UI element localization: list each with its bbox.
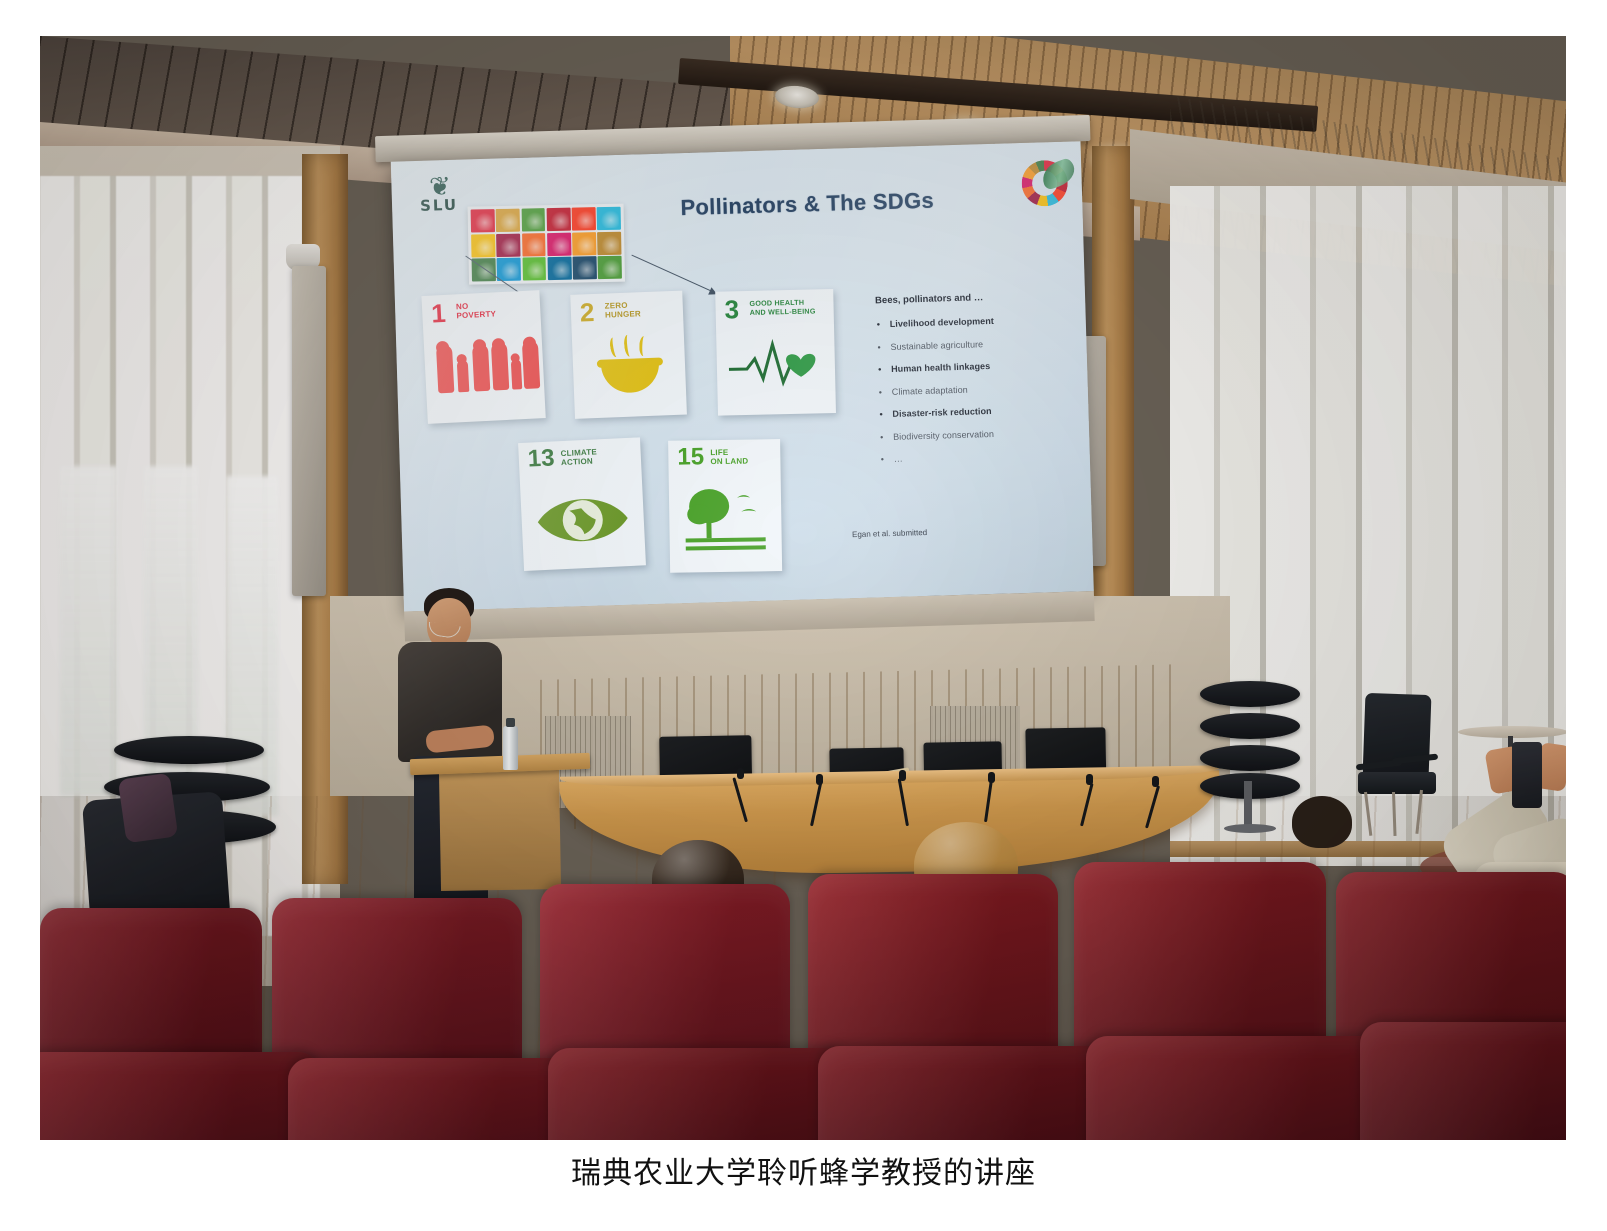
slu-wordmark: SLU bbox=[412, 195, 467, 215]
tree-birds-svg bbox=[683, 485, 772, 556]
seat-shading bbox=[1086, 1036, 1396, 1140]
sdg-card-13: 13 CLIMATE ACTION bbox=[518, 437, 646, 571]
page-root: ❦ SLU Pollinators & The SDGs 1 NO bbox=[0, 0, 1607, 1231]
sdg-goal-tile-2 bbox=[496, 209, 520, 232]
armchair-leg bbox=[1364, 792, 1372, 836]
eye-globe-icon bbox=[532, 486, 633, 555]
slu-leaf-icon: ❦ bbox=[411, 175, 466, 197]
lectern-body bbox=[439, 769, 561, 891]
wall-speaker-left bbox=[292, 266, 326, 596]
bullets-heading: Bees, pollinators and … bbox=[875, 290, 1055, 306]
sdg-goal-tile-8 bbox=[496, 233, 520, 256]
sdg-goal-tile-10 bbox=[547, 232, 571, 255]
black-armchair bbox=[1358, 694, 1436, 834]
projection-screen: ❦ SLU Pollinators & The SDGs 1 NO bbox=[391, 141, 1094, 611]
sdg-goal-tile-6 bbox=[597, 207, 621, 230]
sdg-card-label: CLIMATE ACTION bbox=[560, 447, 597, 467]
auditorium-seat-front bbox=[1086, 1036, 1396, 1140]
chair-ellipse bbox=[1200, 713, 1300, 739]
microphone-head-icon bbox=[816, 774, 823, 785]
audience-head bbox=[1292, 796, 1352, 848]
bullet-item-4: Climate adaptation bbox=[892, 382, 1058, 397]
sdg-card-label-line2: AND WELL-BEING bbox=[750, 306, 816, 316]
slide-citation: Egan et al. submitted bbox=[852, 528, 927, 539]
bullet-item-2: Sustainable agriculture bbox=[890, 337, 1056, 352]
photo-caption: 瑞典农业大学聆听蜂学教授的讲座 bbox=[0, 1148, 1607, 1192]
seat-shading bbox=[288, 1058, 578, 1140]
chair-ellipse bbox=[1200, 681, 1300, 707]
sdg-goal-tile-3 bbox=[521, 208, 545, 231]
microphone-head-icon bbox=[737, 768, 744, 779]
bullet-item-6: Biodiversity conservation bbox=[893, 426, 1059, 441]
armchair-seat bbox=[1358, 772, 1436, 794]
microphone-head-icon bbox=[988, 772, 995, 783]
bullet-list: Livelihood developmentSustainable agricu… bbox=[876, 314, 1060, 464]
water-bottle bbox=[503, 726, 518, 770]
sdg-card-label-line1: LIFE bbox=[710, 448, 728, 457]
water-bottle-cap bbox=[506, 718, 515, 727]
arrow-icon-right bbox=[631, 255, 715, 294]
sdg-card-15: 15 LIFE ON LAND bbox=[668, 439, 782, 573]
auditorium-seat-front bbox=[40, 1052, 320, 1140]
sdg-card-label: NO POVERTY bbox=[456, 300, 497, 320]
sdg-card-label-line2: ACTION bbox=[561, 457, 593, 467]
sdg-card-label: GOOD HEALTH AND WELL-BEING bbox=[749, 297, 815, 316]
sdg-goal-tile-15 bbox=[522, 257, 546, 280]
bullet-item-7: … bbox=[894, 449, 1060, 464]
sdg-goal-tile-7 bbox=[471, 234, 495, 257]
sdg-card-label: ZERO HUNGER bbox=[605, 300, 642, 319]
microphone-head-icon bbox=[899, 770, 906, 781]
sdg-goal-tile-5 bbox=[572, 207, 596, 230]
smartphone bbox=[1512, 742, 1542, 808]
auditorium-seat-front bbox=[818, 1046, 1118, 1140]
auditorium-seat-front bbox=[288, 1058, 578, 1140]
auditorium-seat-front bbox=[548, 1048, 848, 1140]
seat-shading bbox=[548, 1048, 848, 1140]
tree-birds-icon bbox=[683, 485, 772, 556]
sdg-goal-tile-4 bbox=[546, 208, 570, 231]
sdg-card-number: 2 bbox=[579, 299, 594, 326]
slu-logo: ❦ SLU bbox=[411, 175, 466, 215]
lecture-hall-photo: ❦ SLU Pollinators & The SDGs 1 NO bbox=[40, 36, 1566, 1140]
slide-title: Pollinators & The SDGs bbox=[642, 186, 973, 222]
heartbeat-svg bbox=[726, 337, 827, 395]
sdg-card-label-line2: HUNGER bbox=[605, 309, 641, 319]
bullet-item-5: Disaster-risk reduction bbox=[892, 404, 1058, 419]
sdg-card-1: 1 NO POVERTY bbox=[421, 290, 545, 424]
sdg-card-number: 3 bbox=[724, 296, 739, 322]
sdg-card-label-line2: ON LAND bbox=[710, 457, 748, 467]
corona-ellipse-chair bbox=[1200, 681, 1300, 811]
sdg-card-number: 15 bbox=[677, 445, 704, 469]
auditorium-seat-front bbox=[1360, 1022, 1566, 1140]
sdg-card-number: 1 bbox=[431, 300, 447, 327]
chair-ellipse bbox=[1200, 745, 1300, 771]
sdg-card-number: 13 bbox=[527, 446, 555, 471]
seat-shading bbox=[818, 1046, 1118, 1140]
sdg-goal-tile-16 bbox=[547, 257, 571, 280]
heartbeat-line-icon bbox=[726, 337, 827, 395]
eye-globe-svg bbox=[532, 486, 633, 555]
armchair-leg bbox=[1415, 790, 1423, 834]
sdg-goal-tile-18 bbox=[598, 256, 622, 279]
slide-bullets: Bees, pollinators and … Livelihood devel… bbox=[875, 290, 1060, 477]
sdg-goal-tile-11 bbox=[572, 232, 596, 255]
bullet-item-3: Human health linkages bbox=[891, 359, 1057, 374]
family-figures-icon bbox=[434, 337, 535, 402]
sdg-card-label: LIFE ON LAND bbox=[710, 448, 748, 467]
chair-ellipse bbox=[114, 736, 264, 764]
seat-shading bbox=[1360, 1022, 1566, 1140]
sdg-card-3: 3 GOOD HEALTH AND WELL-BEING bbox=[715, 289, 836, 416]
background-person-coat bbox=[118, 773, 178, 844]
armchair-leg bbox=[1392, 792, 1397, 836]
sdg-goal-tile-12 bbox=[597, 231, 621, 254]
bullet-item-1: Livelihood development bbox=[890, 314, 1056, 329]
chair-stem bbox=[1244, 781, 1252, 829]
sdg-goal-tile-17 bbox=[573, 256, 597, 279]
projection-screen-assembly: ❦ SLU Pollinators & The SDGs 1 NO bbox=[380, 115, 1115, 656]
sdg-goal-tile-14 bbox=[497, 258, 521, 281]
chair-base bbox=[1224, 824, 1276, 833]
sdg-goal-tile-1 bbox=[471, 209, 495, 232]
seat-shading bbox=[40, 1052, 320, 1140]
sdg-card-2: 2 ZERO HUNGER bbox=[570, 291, 687, 419]
microphone-head-icon bbox=[1152, 776, 1159, 787]
sdg-goal-tile-9 bbox=[522, 233, 546, 256]
steaming-bowl-icon bbox=[596, 335, 664, 399]
sdg-card-label-line2: POVERTY bbox=[456, 309, 496, 320]
microphone-head-icon bbox=[1086, 774, 1093, 785]
